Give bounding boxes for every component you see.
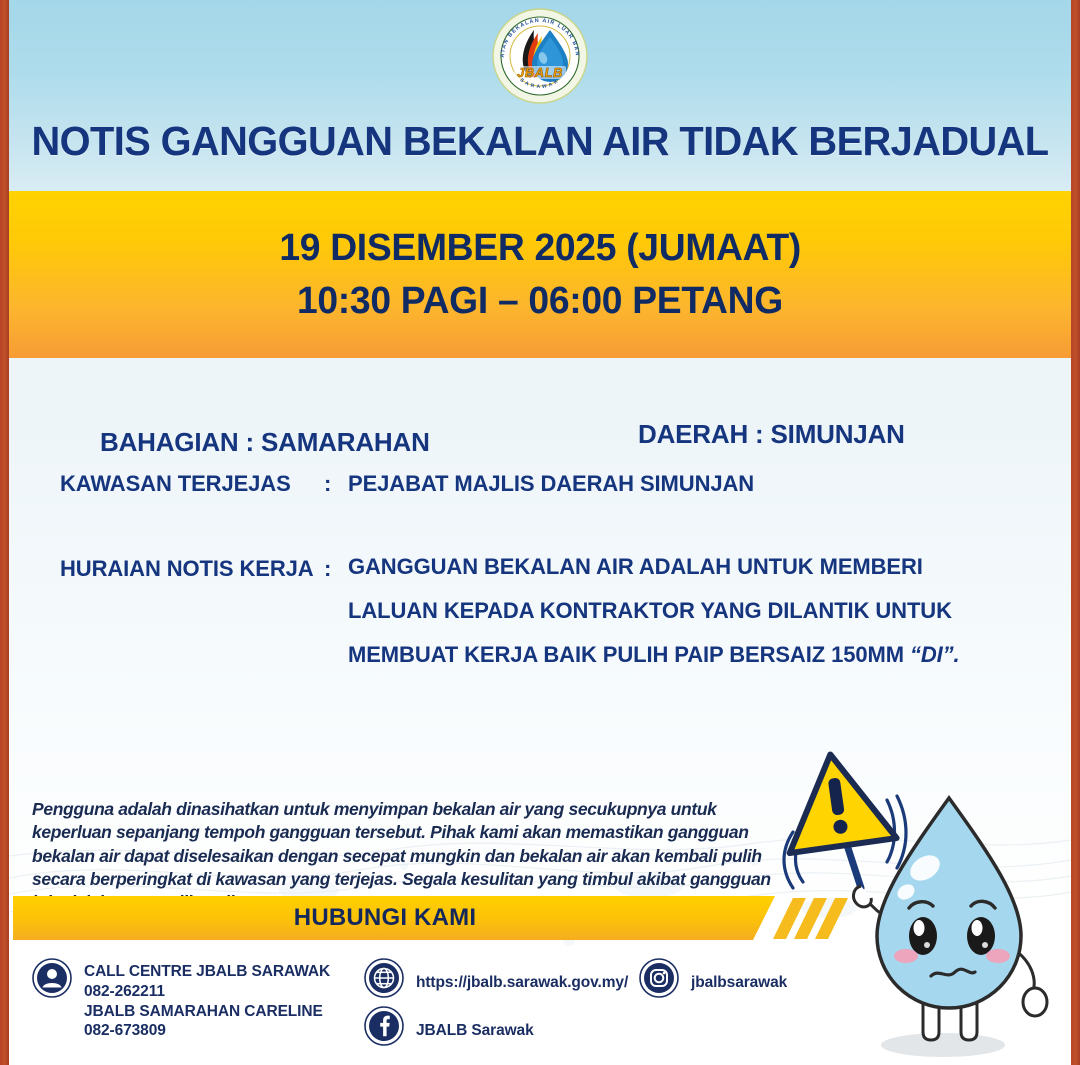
instagram-handle: jbalbsarawak: [691, 962, 787, 993]
affected-area-label: KAWASAN TERJEJAS: [60, 471, 291, 497]
jbalb-sarawak-logo: JBALB JABATAN BEKALAN AIR LUAR BANDAR SA…: [490, 6, 590, 106]
work-description-line-3-text: MEMBUAT KERJA BAIK PULIH PAIP BERSAIZ 15…: [348, 642, 910, 667]
website-url: https://jbalb.sarawak.gov.my/: [416, 962, 628, 993]
instagram-contact[interactable]: jbalbsarawak: [639, 958, 787, 998]
work-description-pipe-label: “DI”.: [910, 642, 960, 667]
careline-name: JBALB SAMARAHAN CARELINE: [84, 1002, 330, 1022]
affected-area-colon: :: [324, 471, 331, 497]
call-centre-name: CALL CENTRE JBALB SARAWAK: [84, 962, 330, 982]
bahagian-label: BAHAGIAN : SAMARAHAN: [100, 427, 430, 458]
poster-header: JBALB JABATAN BEKALAN AIR LUAR BANDAR SA…: [9, 0, 1071, 191]
region-row: BAHAGIAN : SAMARAHAN DAERAH : SIMUNJAN: [9, 391, 1071, 435]
facebook-icon: [364, 1006, 404, 1046]
facebook-text: JBALB Sarawak: [416, 1006, 534, 1041]
person-icon: [32, 958, 72, 998]
work-description-row: HURAIAN NOTIS KERJA : GANGGUAN BEKALAN A…: [9, 556, 1071, 600]
logo-graphic: JBALB JABATAN BEKALAN AIR LUAR BANDAR SA…: [490, 6, 590, 106]
website-contact[interactable]: https://jbalb.sarawak.gov.my/: [364, 958, 628, 998]
notice-details: KAWASAN TERJEJAS : PEJABAT MAJLIS DAERAH…: [9, 471, 1071, 600]
globe-icon: [364, 958, 404, 998]
contact-banner: HUBUNGI KAMI: [13, 896, 775, 940]
contact-banner-title: HUBUNGI KAMI: [294, 904, 494, 932]
svg-text:JBALB: JBALB: [517, 65, 563, 80]
website-text: https://jbalb.sarawak.gov.my/: [416, 958, 628, 993]
right-border-accent: [1071, 0, 1080, 1065]
call-centre-text: CALL CENTRE JBALB SARAWAK 082-262211 JBA…: [84, 958, 330, 1041]
left-border-accent: [0, 0, 9, 1065]
daerah-label: DAERAH : SIMUNJAN: [638, 419, 905, 450]
work-description-value: GANGGUAN BEKALAN AIR ADALAH UNTUK MEMBER…: [348, 556, 1011, 666]
notice-date: 19 DISEMBER 2025 (JUMAAT): [279, 222, 801, 274]
facebook-contact[interactable]: JBALB Sarawak: [364, 1006, 534, 1046]
poster-body: BAHAGIAN : SAMARAHAN DAERAH : SIMUNJAN K…: [9, 358, 1071, 1065]
date-time-band: 19 DISEMBER 2025 (JUMAAT) 10:30 PAGI – 0…: [9, 191, 1071, 358]
call-centre-contact[interactable]: CALL CENTRE JBALB SARAWAK 082-262211 JBA…: [32, 958, 330, 1041]
work-description-label: HURAIAN NOTIS KERJA: [60, 556, 314, 582]
work-description-colon: :: [324, 556, 331, 582]
facebook-handle: JBALB Sarawak: [416, 1010, 534, 1041]
notice-time-range: 10:30 PAGI – 06:00 PETANG: [297, 275, 783, 327]
instagram-icon: [639, 958, 679, 998]
contact-banner-wrapper: HUBUNGI KAMI: [9, 896, 1071, 944]
careline-number: 082-673809: [84, 1021, 330, 1041]
work-description-line-1: GANGGUAN BEKALAN AIR ADALAH UNTUK MEMBER…: [348, 556, 1011, 578]
work-description-line-3: MEMBUAT KERJA BAIK PULIH PAIP BERSAIZ 15…: [348, 644, 1011, 666]
page-title: NOTIS GANGGUAN BEKALAN AIR TIDAK BERJADU…: [25, 118, 1055, 165]
instagram-text: jbalbsarawak: [691, 958, 787, 993]
work-description-line-2: LALUAN KEPADA KONTRAKTOR YANG DILANTIK U…: [348, 600, 1011, 622]
water-disruption-notice-poster: JBALB JABATAN BEKALAN AIR LUAR BANDAR SA…: [0, 0, 1080, 1065]
contact-details: CALL CENTRE JBALB SARAWAK 082-262211 JBA…: [9, 954, 1071, 1064]
call-centre-number: 082-262211: [84, 982, 330, 1002]
affected-area-value: PEJABAT MAJLIS DAERAH SIMUNJAN: [348, 471, 1011, 497]
affected-area-row: KAWASAN TERJEJAS : PEJABAT MAJLIS DAERAH…: [9, 471, 1071, 515]
